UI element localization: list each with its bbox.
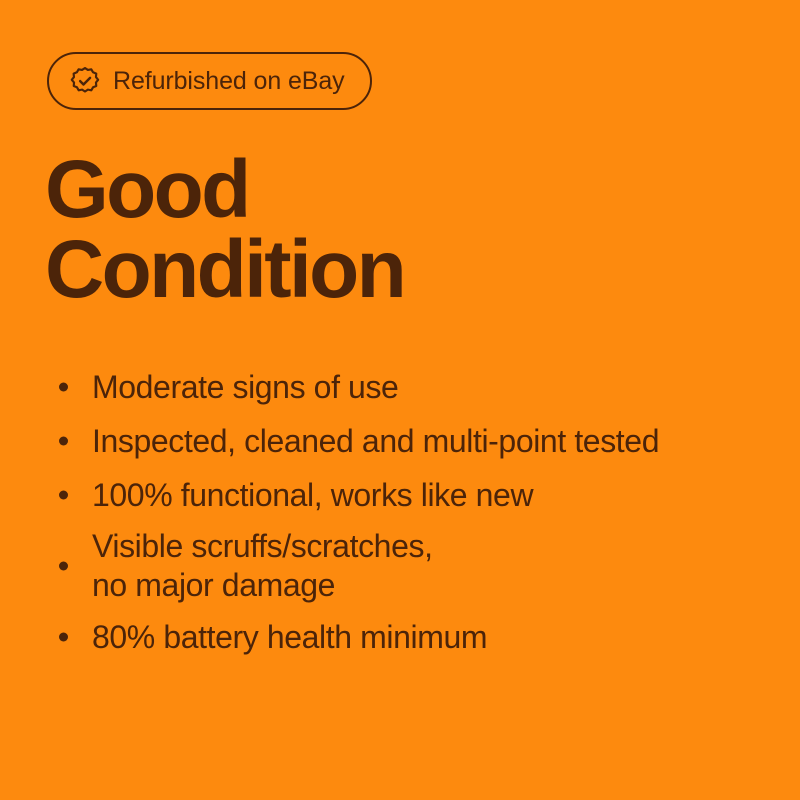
list-item-label: Inspected, cleaned and multi-point teste… (92, 421, 659, 461)
refurbished-badge-label: Refurbished on eBay (113, 66, 345, 96)
list-item-label: Moderate signs of use (92, 367, 398, 407)
bullet-dot-icon (59, 437, 68, 446)
list-item-label: 100% functional, works like new (92, 475, 533, 515)
refurbished-condition-card: Refurbished on eBay Good Condition Moder… (0, 0, 800, 800)
bullet-dot-icon (59, 383, 68, 392)
page-title-line-2: Condition (45, 230, 745, 310)
bullet-dot-icon (59, 491, 68, 500)
list-item: Inspected, cleaned and multi-point teste… (45, 414, 775, 468)
bullet-dot-icon (59, 633, 68, 642)
list-item-label: Visible scruffs/scratches, no major dama… (92, 527, 433, 605)
refurbished-badge[interactable]: Refurbished on eBay (47, 52, 372, 110)
verified-badge-check-icon (70, 66, 100, 96)
bullet-dot-icon (59, 562, 68, 571)
page-title: Good Condition (45, 150, 745, 310)
list-item: 80% battery health minimum (45, 610, 775, 664)
list-item: Moderate signs of use (45, 360, 775, 414)
condition-feature-list: Moderate signs of use Inspected, cleaned… (45, 360, 775, 664)
list-item: Visible scruffs/scratches, no major dama… (45, 522, 775, 610)
list-item-label: 80% battery health minimum (92, 617, 487, 657)
list-item: 100% functional, works like new (45, 468, 775, 522)
page-title-line-1: Good (45, 150, 745, 230)
